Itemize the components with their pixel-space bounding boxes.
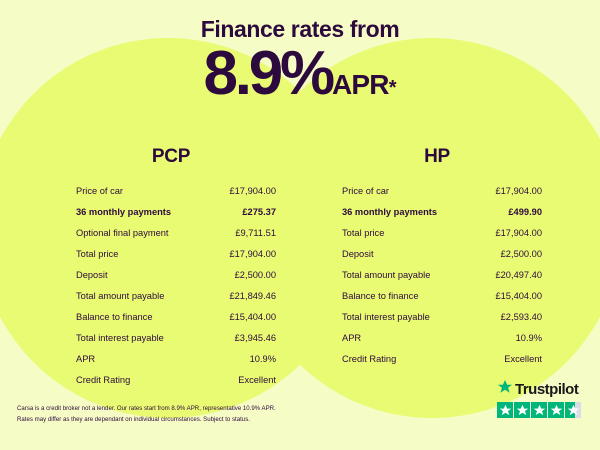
trustpilot-stars: [497, 402, 581, 418]
row-label: Total price: [328, 223, 384, 244]
row-label: Deposit: [62, 265, 108, 286]
plan-column-hp: HP Price of car£17,904.0036 monthly paym…: [328, 146, 546, 370]
plan-rows-hp: Price of car£17,904.0036 monthly payment…: [328, 181, 546, 370]
row-value: £21,849.46: [229, 286, 280, 307]
trustpilot-wordmark: Trustpilot: [497, 381, 581, 398]
table-row: Optional final payment£9,711.51: [62, 223, 280, 244]
star-icon-filled: [548, 402, 564, 418]
trustpilot-rating[interactable]: Trustpilot: [497, 381, 581, 418]
row-value: £2,500.00: [235, 265, 280, 286]
table-row: Balance to finance£15,404.00: [328, 286, 546, 307]
row-label: Total amount payable: [62, 286, 164, 307]
disclaimer: Carsa is a credit broker not a lender. O…: [17, 404, 347, 425]
rate-value: 8.9%: [203, 39, 332, 108]
rate-suffix: APR: [332, 69, 389, 100]
row-value: £2,500.00: [501, 244, 546, 265]
plan-rows-pcp: Price of car£17,904.0036 monthly payment…: [62, 181, 280, 391]
table-row: Total interest payable£2,593.40: [328, 307, 546, 328]
plan-title-pcp: PCP: [62, 146, 280, 168]
row-label: Credit Rating: [328, 349, 396, 370]
row-value: 10.9%: [250, 349, 280, 370]
table-row: 36 monthly payments£499.90: [328, 202, 546, 223]
row-label: 36 monthly payments: [62, 202, 171, 223]
row-value: £20,497.40: [495, 265, 546, 286]
row-value: £17,904.00: [229, 181, 280, 202]
row-label: APR: [62, 349, 95, 370]
row-value: £15,404.00: [229, 307, 280, 328]
disclaimer-line-2: Rates may differ as they are dependant o…: [17, 415, 347, 426]
table-row: Balance to finance£15,404.00: [62, 307, 280, 328]
row-value: £17,904.00: [495, 223, 546, 244]
row-label: Price of car: [62, 181, 123, 202]
table-row: Total price£17,904.00: [328, 223, 546, 244]
row-value: £2,593.40: [501, 307, 546, 328]
row-value: £17,904.00: [229, 244, 280, 265]
plan-title-hp: HP: [328, 146, 546, 168]
table-row: Credit RatingExcellent: [328, 349, 546, 370]
row-label: Total amount payable: [328, 265, 430, 286]
table-row: Credit RatingExcellent: [62, 370, 280, 391]
row-value: £499.90: [508, 202, 546, 223]
row-value: £3,945.46: [235, 328, 280, 349]
disclaimer-line-1: Carsa is a credit broker not a lender. O…: [17, 404, 347, 415]
row-label: Balance to finance: [328, 286, 419, 307]
header: Finance rates from 8.9%APR*: [0, 0, 600, 105]
promo-banner: Finance rates from 8.9%APR* PCP Price of…: [0, 0, 600, 450]
row-label: Credit Rating: [62, 370, 130, 391]
star-icon-filled: [514, 402, 530, 418]
row-value: £15,404.00: [495, 286, 546, 307]
row-value: £275.37: [242, 202, 280, 223]
row-label: Balance to finance: [62, 307, 153, 328]
table-row: Price of car£17,904.00: [328, 181, 546, 202]
table-row: Deposit£2,500.00: [62, 265, 280, 286]
row-label: 36 monthly payments: [328, 202, 437, 223]
table-row: Deposit£2,500.00: [328, 244, 546, 265]
star-icon-partial: [565, 402, 581, 418]
row-value: 10.9%: [516, 328, 546, 349]
page-title: Finance rates from: [0, 0, 600, 42]
table-row: Total interest payable£3,945.46: [62, 328, 280, 349]
row-label: Total price: [62, 244, 118, 265]
row-label: APR: [328, 328, 361, 349]
row-label: Total interest payable: [328, 307, 430, 328]
table-row: Price of car£17,904.00: [62, 181, 280, 202]
table-row: APR10.9%: [62, 349, 280, 370]
row-value: £9,711.51: [235, 223, 280, 244]
table-row: Total amount payable£21,849.46: [62, 286, 280, 307]
row-label: Total interest payable: [62, 328, 164, 349]
row-value: Excellent: [238, 370, 280, 391]
table-row: APR10.9%: [328, 328, 546, 349]
rate-headline: 8.9%APR*: [0, 43, 600, 105]
row-label: Optional final payment: [62, 223, 169, 244]
rate-asterisk: *: [389, 77, 397, 99]
row-value: Excellent: [504, 349, 546, 370]
row-label: Price of car: [328, 181, 389, 202]
star-icon-filled: [531, 402, 547, 418]
trustpilot-name: Trustpilot: [515, 382, 578, 397]
table-row: Total amount payable£20,497.40: [328, 265, 546, 286]
star-icon-filled: [497, 402, 513, 418]
star-icon: [497, 379, 513, 400]
table-row: 36 monthly payments£275.37: [62, 202, 280, 223]
table-row: Total price£17,904.00: [62, 244, 280, 265]
row-value: £17,904.00: [495, 181, 546, 202]
row-label: Deposit: [328, 244, 374, 265]
plan-column-pcp: PCP Price of car£17,904.0036 monthly pay…: [62, 146, 280, 391]
